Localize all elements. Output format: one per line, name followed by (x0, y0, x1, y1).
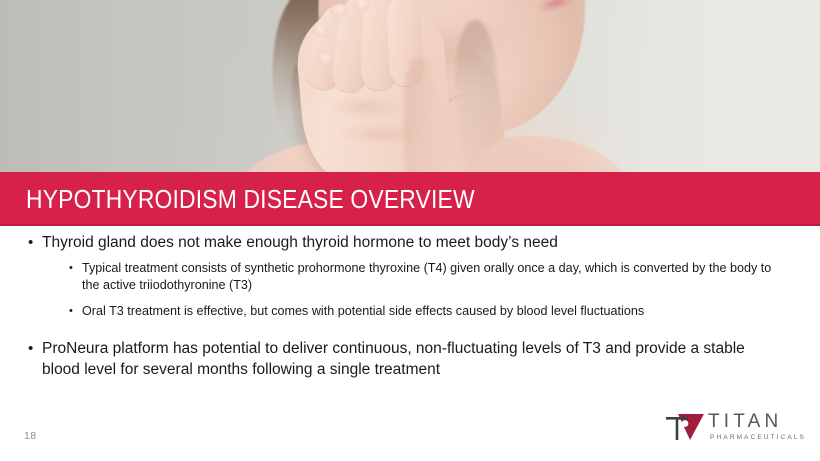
bullet-text: Thyroid gland does not make enough thyro… (42, 234, 558, 251)
fingernail-shape (353, 0, 370, 11)
bullet-text: ProNeura platform has potential to deliv… (42, 340, 745, 378)
hero-image (0, 0, 820, 175)
hero-fade-left (0, 0, 290, 175)
bullet-item-2: • Typical treatment consists of syntheti… (0, 260, 820, 293)
bullet-marker: • (69, 303, 73, 320)
page-number: 18 (24, 430, 36, 442)
knuckle-shading (330, 96, 402, 118)
titan-logo-mark-icon (664, 410, 706, 444)
bullet-list: • Thyroid gland does not make enough thy… (0, 232, 820, 386)
hand-shadow (404, 58, 434, 175)
bullet-marker: • (69, 260, 73, 277)
slide: HYPOTHYROIDISM DISEASE OVERVIEW • Thyroi… (0, 0, 820, 461)
bullet-item-3: • Oral T3 treatment is effective, but co… (0, 303, 820, 320)
titan-logo-wordmark: TITAN PHARMACEUTICALS (708, 412, 806, 442)
title-band: HYPOTHYROIDISM DISEASE OVERVIEW (0, 172, 820, 226)
bullet-marker: • (28, 232, 33, 253)
bullet-marker: • (28, 338, 33, 359)
bullet-item-4: • ProNeura platform has potential to del… (0, 338, 820, 380)
titan-logo: TITAN PHARMACEUTICALS (664, 406, 798, 448)
bullet-text: Oral T3 treatment is effective, but come… (82, 304, 644, 318)
titan-logo-subtitle: PHARMACEUTICALS (710, 435, 806, 442)
bullet-item-1: • Thyroid gland does not make enough thy… (0, 232, 820, 253)
hero-fade-right (570, 0, 820, 175)
titan-logo-name: TITAN (708, 412, 806, 431)
page-title: HYPOTHYROIDISM DISEASE OVERVIEW (26, 172, 475, 226)
bullet-text: Typical treatment consists of synthetic … (82, 261, 771, 292)
